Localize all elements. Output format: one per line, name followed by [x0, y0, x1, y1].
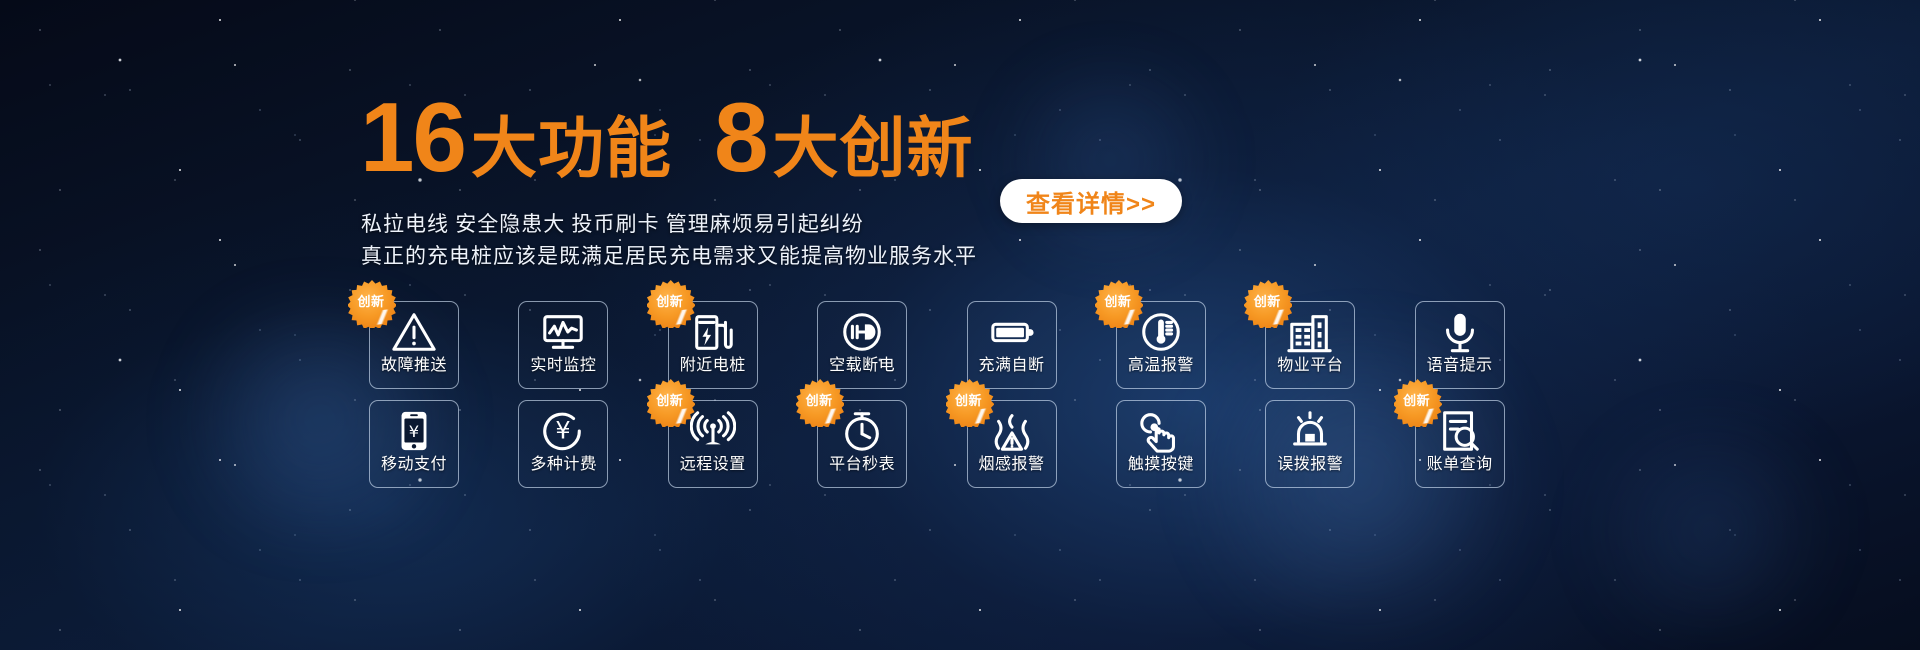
- feature-card-误拨报警[interactable]: 误拨报警: [1265, 400, 1355, 488]
- feature-cell: ¥移动支付: [363, 392, 507, 491]
- feature-card-充满自断[interactable]: 充满自断: [967, 301, 1057, 389]
- warning-triangle-icon: [391, 306, 437, 358]
- feature-label: 语音提示: [1427, 358, 1493, 374]
- feature-label: 故障推送: [381, 358, 447, 374]
- feature-cell: 实时监控: [512, 293, 656, 392]
- badge-highlight-streak: [1118, 309, 1141, 325]
- feature-label: 账单查询: [1427, 457, 1493, 473]
- innovation-badge-label: 创新: [1394, 390, 1440, 409]
- building-icon: [1287, 306, 1333, 358]
- feature-card-移动支付[interactable]: ¥移动支付: [369, 400, 459, 488]
- innovation-badge-label: 创新: [1244, 291, 1290, 310]
- promo-banner: 16 大功能 8 大创新 私拉电线 安全隐患大 投币刷卡 管理麻烦易引起纠纷 真…: [0, 0, 1920, 650]
- microphone-icon: [1437, 306, 1483, 358]
- feature-card-语音提示[interactable]: 语音提示: [1415, 301, 1505, 389]
- nebula-glow-top: [980, 60, 1240, 260]
- innovation-badge: 创新: [1095, 280, 1143, 328]
- nebula-glow-far-right: [1560, 420, 1860, 640]
- yuan-circle-icon: ¥: [540, 405, 586, 457]
- subtitle-line-1: 私拉电线 安全隐患大 投币刷卡 管理麻烦易引起纠纷: [361, 208, 977, 240]
- feature-cell: 账单查询创新: [1409, 392, 1553, 491]
- svg-text:¥: ¥: [556, 417, 571, 445]
- feature-label: 高温报警: [1128, 358, 1194, 374]
- smoke-alarm-icon: [989, 405, 1035, 457]
- innovation-badge: 创新: [796, 379, 844, 427]
- badge-highlight-streak: [371, 309, 394, 325]
- badge-highlight-streak: [1268, 309, 1291, 325]
- innovation-badge-label: 创新: [796, 390, 842, 409]
- headline-text-functions: 大功能: [471, 115, 672, 181]
- headline-number-functions: 16: [360, 88, 465, 186]
- svg-text:¥: ¥: [409, 422, 419, 441]
- phone-yuan-icon: ¥: [391, 405, 437, 457]
- view-details-label: 查看详情>>: [1026, 184, 1156, 219]
- feature-card-空载断电[interactable]: 空载断电: [817, 301, 907, 389]
- plug-circle-icon: [839, 306, 885, 358]
- feature-label: 实时监控: [530, 358, 596, 374]
- headline-text-innovations: 大创新: [773, 115, 974, 181]
- feature-label: 附近电桩: [680, 358, 746, 374]
- subtitle-line-2: 真正的充电桩应该是既满足居民充电需求又能提高物业服务水平: [361, 240, 977, 272]
- innovation-badge: 创新: [647, 379, 695, 427]
- feature-label: 触摸按键: [1128, 457, 1194, 473]
- feature-card-多种计费[interactable]: ¥多种计费: [518, 400, 608, 488]
- innovation-badge: 创新: [647, 280, 695, 328]
- feature-cell: 附近电桩创新: [662, 293, 806, 392]
- badge-highlight-streak: [819, 408, 842, 424]
- siren-icon: [1287, 405, 1333, 457]
- feature-cell: 平台秒表创新: [811, 392, 955, 491]
- feature-cell: 误拨报警: [1259, 392, 1403, 491]
- feature-cell: 触摸按键: [1110, 392, 1254, 491]
- innovation-badge-label: 创新: [946, 390, 992, 409]
- innovation-badge: 创新: [946, 379, 994, 427]
- feature-cell: 物业平台创新: [1259, 293, 1403, 392]
- feature-label: 多种计费: [530, 457, 596, 473]
- feature-label: 误拨报警: [1277, 457, 1343, 473]
- feature-label: 移动支付: [381, 457, 447, 473]
- subtitle-block: 私拉电线 安全隐患大 投币刷卡 管理麻烦易引起纠纷 真正的充电桩应该是既满足居民…: [361, 208, 977, 272]
- innovation-badge: 创新: [348, 280, 396, 328]
- bill-search-icon: [1437, 405, 1483, 457]
- feature-cell: 充满自断: [961, 293, 1105, 392]
- feature-cell: 远程设置创新: [662, 392, 806, 491]
- page-title: 16 大功能 8 大创新: [360, 88, 974, 186]
- feature-cell: ¥多种计费: [512, 392, 656, 491]
- battery-full-icon: [989, 306, 1035, 358]
- innovation-badge-label: 创新: [1095, 291, 1141, 310]
- feature-label: 物业平台: [1277, 358, 1343, 374]
- view-details-button[interactable]: 查看详情>>: [1000, 179, 1182, 223]
- monitor-waveform-icon: [540, 306, 586, 358]
- feature-cell: 烟感报警创新: [961, 392, 1105, 491]
- headline-number-innovations: 8: [714, 88, 767, 186]
- feature-label: 烟感报警: [978, 457, 1044, 473]
- badge-highlight-streak: [670, 408, 693, 424]
- stopwatch-icon: [839, 405, 885, 457]
- badge-highlight-streak: [670, 309, 693, 325]
- thermometer-icon: [1138, 306, 1184, 358]
- feature-cell: 故障推送创新: [363, 293, 507, 392]
- antenna-signal-icon: [690, 405, 736, 457]
- feature-card-实时监控[interactable]: 实时监控: [518, 301, 608, 389]
- feature-label: 远程设置: [680, 457, 746, 473]
- feature-card-触摸按键[interactable]: 触摸按键: [1116, 400, 1206, 488]
- badge-highlight-streak: [969, 408, 992, 424]
- innovation-badge: 创新: [1244, 280, 1292, 328]
- charging-pile-icon: [690, 306, 736, 358]
- touch-hand-icon: [1138, 405, 1184, 457]
- feature-grid: 故障推送创新实时监控附近电桩创新空载断电充满自断高温报警创新物业平台创新语音提示…: [363, 293, 1553, 491]
- feature-label: 空载断电: [829, 358, 895, 374]
- feature-cell: 空载断电: [811, 293, 955, 392]
- feature-label: 平台秒表: [829, 457, 895, 473]
- innovation-badge-label: 创新: [647, 390, 693, 409]
- innovation-badge: 创新: [1394, 379, 1442, 427]
- badge-highlight-streak: [1417, 408, 1440, 424]
- feature-cell: 高温报警创新: [1110, 293, 1254, 392]
- innovation-badge-label: 创新: [647, 291, 693, 310]
- innovation-badge-label: 创新: [348, 291, 394, 310]
- feature-label: 充满自断: [978, 358, 1044, 374]
- feature-cell: 语音提示: [1409, 293, 1553, 392]
